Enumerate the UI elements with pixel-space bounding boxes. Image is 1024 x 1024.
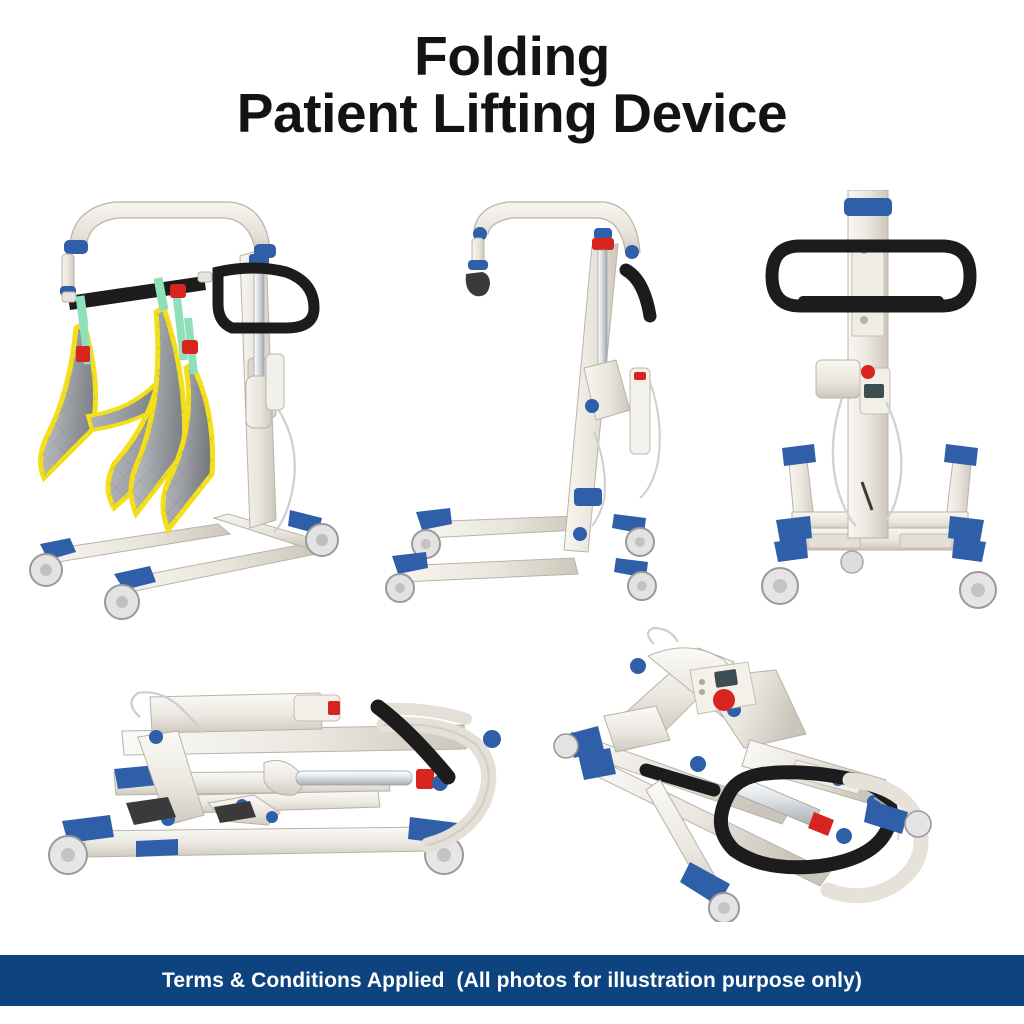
base-legs-group <box>46 514 318 592</box>
product-photo-lift-with-slings <box>18 168 370 628</box>
page-title: Folding Patient Lifting Device <box>0 28 1024 142</box>
product-photo-side-view <box>378 182 678 622</box>
boom-arm-group <box>64 202 276 258</box>
footer-disclaimer-text: Terms & Conditions Applied (All photos f… <box>162 969 862 993</box>
footer-bottom-strip <box>0 1006 1024 1024</box>
product-photo-folded-side <box>28 645 540 913</box>
product-photo-folded-angled <box>538 622 990 922</box>
hand-control <box>266 354 284 410</box>
caster-group <box>30 510 338 619</box>
product-advertisement-page: Folding Patient Lifting Device <box>0 0 1024 1024</box>
caster-group <box>762 551 996 608</box>
side-handle <box>626 270 650 316</box>
product-photo-rear-view <box>738 190 1024 630</box>
title-line-2: Patient Lifting Device <box>0 85 1024 142</box>
title-line-1: Folding <box>0 28 1024 85</box>
sling-hook-group <box>466 238 490 296</box>
power-cable <box>648 628 678 644</box>
hand-control-group <box>630 368 660 498</box>
product-photo-gallery <box>0 160 1024 940</box>
control-box-group <box>690 662 756 714</box>
footer-banner: Terms & Conditions Applied (All photos f… <box>0 955 1024 1006</box>
